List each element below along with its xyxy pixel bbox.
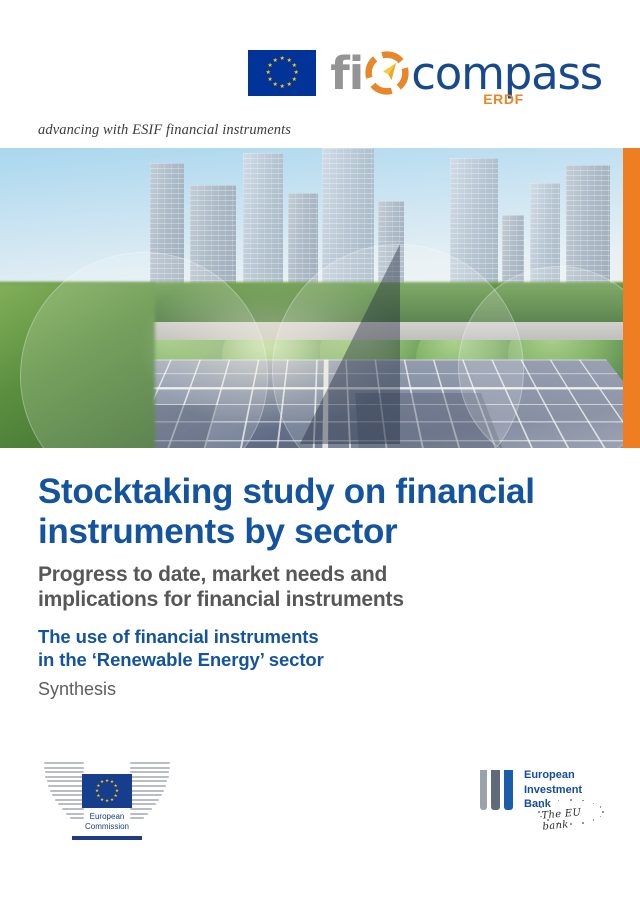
- fi-compass-fi-text: fi: [330, 51, 363, 96]
- sector-heading-line2: in the ‘Renewable Energy’ sector: [38, 649, 324, 670]
- document-kind-label: Synthesis: [38, 679, 598, 701]
- eu-star-icon: ★: [100, 797, 104, 802]
- eib-star-dot: [602, 811, 604, 813]
- european-commission-logo: ★★★★★★★★★★★★ European Commission: [44, 762, 170, 854]
- eu-star-icon: ★: [287, 82, 292, 88]
- eib-tagline: The EU bank: [541, 805, 603, 832]
- ec-swoosh-stripe: [58, 803, 84, 805]
- ec-swoosh-stripe: [62, 808, 84, 810]
- ec-swoosh-stripe: [52, 794, 84, 796]
- ec-swoosh-stripe: [44, 762, 84, 764]
- ec-swoosh-stripe: [130, 762, 170, 764]
- ec-swoosh-stripe: [45, 776, 84, 778]
- eu-star-icon: ★: [110, 797, 114, 802]
- ec-swoosh-stripe: [48, 785, 84, 787]
- cover-footer: ★★★★★★★★★★★★ European Commission Europea…: [0, 752, 640, 862]
- page-subtitle: Progress to date, market needs and impli…: [38, 562, 598, 612]
- eu-star-icon: ★: [105, 779, 109, 784]
- ec-label-line2: Commission: [72, 822, 142, 832]
- ec-swoosh-stripe: [130, 785, 166, 787]
- cover-header: ★★★★★★★★★★★★ fi compass ERDF: [0, 0, 640, 148]
- eu-star-icon: ★: [267, 63, 272, 69]
- page-title-line2: instruments by sector: [38, 512, 397, 551]
- fi-compass-logo: fi compass ERDF: [330, 51, 602, 96]
- eib-star-dot: [558, 800, 560, 802]
- sector-heading-line1: The use of financial instruments: [38, 626, 319, 647]
- ec-underline-rule: [72, 836, 142, 840]
- ec-swoosh-stripe: [130, 803, 156, 805]
- eu-star-icon: ★: [292, 63, 297, 69]
- ec-label-line1: European: [72, 812, 142, 822]
- page-subtitle-line2: implications for financial instruments: [38, 588, 404, 611]
- eib-star-dot: [570, 799, 572, 801]
- european-investment-bank-logo: European Investment Bank The EU bank: [480, 768, 602, 828]
- page-title-line1: Stocktaking study on financial: [38, 472, 535, 511]
- european-commission-label: European Commission: [72, 812, 142, 832]
- eu-star-icon: ★: [292, 77, 297, 83]
- title-block: Stocktaking study on financial instrumen…: [38, 472, 598, 701]
- ec-swoosh-stripe: [130, 771, 169, 773]
- eu-star-icon: ★: [95, 789, 99, 794]
- ec-swoosh-stripe: [130, 776, 169, 778]
- eib-star-dot: [538, 811, 540, 813]
- ec-swoosh-stripe: [45, 771, 84, 773]
- eu-star-icon: ★: [114, 794, 118, 799]
- eib-label-line1: European: [524, 768, 582, 783]
- erdf-label: ERDF: [483, 91, 524, 107]
- eu-star-icon: ★: [294, 70, 299, 76]
- ec-swoosh-stripe: [55, 799, 84, 801]
- eib-bar-1: [480, 770, 487, 810]
- eu-star-icon: ★: [273, 58, 278, 64]
- ec-swoosh-stripe: [130, 790, 164, 792]
- ec-swoosh-stripe: [50, 790, 84, 792]
- header-tagline: advancing with ESIF financial instrument…: [38, 122, 291, 139]
- eu-star-icon: ★: [273, 82, 278, 88]
- eu-star-icon: ★: [280, 84, 285, 90]
- ec-swoosh-stripe: [130, 780, 167, 782]
- eib-bar-3: [504, 770, 513, 810]
- eib-bar-2: [491, 770, 500, 810]
- eu-flag-icon: ★★★★★★★★★★★★: [248, 50, 316, 96]
- eu-star-icon: ★: [266, 70, 271, 76]
- fi-compass-compass-text: compass: [411, 51, 602, 96]
- eib-label-line2: Investment: [524, 783, 582, 798]
- ec-swoosh-stripe: [130, 799, 159, 801]
- ec-swoosh-stripe: [44, 767, 84, 769]
- cover-photo: [0, 148, 640, 448]
- compass-icon: [365, 51, 409, 95]
- eib-bars-icon: [480, 770, 516, 810]
- accent-bar: [623, 148, 640, 448]
- sector-heading: The use of financial instruments in the …: [38, 626, 598, 671]
- eib-star-dot: [582, 800, 584, 802]
- ec-swoosh-stripe: [47, 780, 84, 782]
- eu-star-icon: ★: [105, 799, 109, 804]
- eu-star-icon: ★: [96, 794, 100, 799]
- brand-lockup: ★★★★★★★★★★★★ fi compass ERDF: [248, 50, 602, 96]
- page-title: Stocktaking study on financial instrumen…: [38, 472, 598, 552]
- eib-star-dot: [593, 803, 595, 805]
- eu-flag-icon: ★★★★★★★★★★★★: [82, 774, 132, 808]
- ec-swoosh-stripe: [130, 794, 162, 796]
- ec-swoosh-stripe: [130, 767, 170, 769]
- eib-star-dot: [547, 803, 549, 805]
- eu-star-icon: ★: [100, 780, 104, 785]
- eu-star-icon: ★: [267, 77, 272, 83]
- eib-star-dot: [540, 806, 542, 808]
- ec-swoosh-stripe: [130, 808, 152, 810]
- page-subtitle-line1: Progress to date, market needs and: [38, 563, 387, 586]
- eu-star-icon: ★: [280, 56, 285, 62]
